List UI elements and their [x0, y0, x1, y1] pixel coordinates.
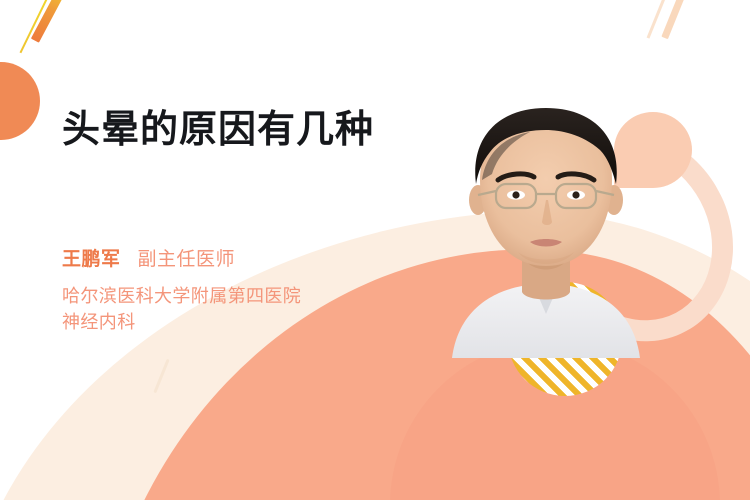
- doctor-affiliation: 哈尔滨医科大学附属第四医院 神经内科: [62, 284, 301, 335]
- doctor-job-title: 副主任医师: [138, 244, 236, 271]
- pale-diagonal-stroke-thin-icon: [647, 0, 670, 38]
- text-content: 头晕的原因有几种 王鹏军 副主任医师 哈尔滨医科大学附属第四医院 神经内科: [0, 0, 430, 500]
- doctor-department: 神经内科: [62, 310, 301, 336]
- doctor-intro-card: 头晕的原因有几种 王鹏军 副主任医师 哈尔滨医科大学附属第四医院 神经内科: [0, 0, 750, 500]
- doctor-portrait: [448, 96, 644, 358]
- doctor-byline: 王鹏军 副主任医师 哈尔滨医科大学附属第四医院 神经内科: [62, 244, 301, 335]
- doctor-hospital: 哈尔滨医科大学附属第四医院: [62, 284, 301, 310]
- pale-diagonal-stroke-icon: [661, 0, 689, 39]
- doctor-name-row: 王鹏军 副主任医师: [62, 244, 301, 271]
- page-title: 头晕的原因有几种: [62, 108, 374, 154]
- doctor-name: 王鹏军: [62, 244, 121, 271]
